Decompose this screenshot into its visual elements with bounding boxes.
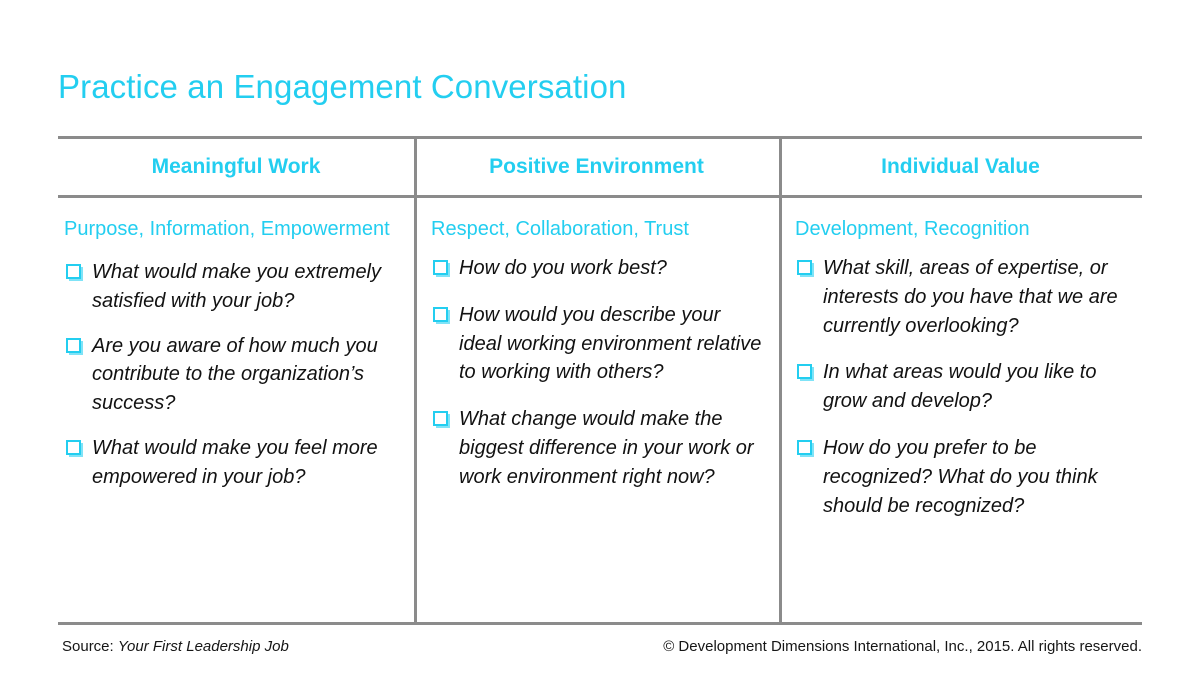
question-list-positive-environment: How do you work best? How would you desc… bbox=[431, 254, 763, 492]
question-text: In what areas would you like to grow and… bbox=[823, 358, 1134, 416]
table-header-row: Meaningful Work Positive Environment Ind… bbox=[58, 139, 1142, 195]
column-header-individual-value: Individual Value bbox=[779, 139, 1142, 195]
question-text: What skill, areas of expertise, or inter… bbox=[823, 254, 1134, 340]
column-positive-environment: Respect, Collaboration, Trust How do you… bbox=[414, 198, 779, 622]
question-text: Are you aware of how much you contribute… bbox=[92, 332, 400, 418]
question-text: What would make you feel more empowered … bbox=[92, 434, 400, 492]
shadowed-square-bullet-icon bbox=[433, 260, 450, 277]
question-text: What would make you extremely satisfied … bbox=[92, 258, 400, 316]
shadowed-square-bullet-icon bbox=[433, 307, 450, 324]
column-subhead-individual-value: Development, Recognition bbox=[795, 214, 1134, 244]
list-item: How do you prefer to be recognized? What… bbox=[795, 434, 1134, 520]
page-title: Practice an Engagement Conversation bbox=[58, 68, 627, 106]
column-header-positive-environment: Positive Environment bbox=[414, 139, 779, 195]
question-text: How would you describe your ideal workin… bbox=[459, 301, 763, 387]
list-item: What would make you feel more empowered … bbox=[64, 434, 400, 492]
source-credit: Source: Your First Leadership Job bbox=[62, 638, 289, 655]
shadowed-square-bullet-icon bbox=[66, 338, 83, 355]
shadowed-square-bullet-icon bbox=[797, 364, 814, 381]
column-subhead-positive-environment: Respect, Collaboration, Trust bbox=[431, 214, 763, 244]
column-meaningful-work: Purpose, Information, Empowerment What w… bbox=[58, 198, 414, 622]
column-subhead-meaningful-work: Purpose, Information, Empowerment bbox=[64, 214, 400, 244]
shadowed-square-bullet-icon bbox=[66, 264, 83, 281]
list-item: What change would make the biggest diffe… bbox=[431, 405, 763, 491]
table-body-row: Purpose, Information, Empowerment What w… bbox=[58, 198, 1142, 622]
question-list-meaningful-work: What would make you extremely satisfied … bbox=[64, 258, 400, 492]
source-title: Your First Leadership Job bbox=[118, 638, 289, 655]
question-text: How do you prefer to be recognized? What… bbox=[823, 434, 1134, 520]
question-text: What change would make the biggest diffe… bbox=[459, 405, 763, 491]
column-individual-value: Development, Recognition What skill, are… bbox=[779, 198, 1142, 622]
shadowed-square-bullet-icon bbox=[66, 440, 83, 457]
shadowed-square-bullet-icon bbox=[433, 411, 450, 428]
slide-canvas: Practice an Engagement Conversation Mean… bbox=[0, 0, 1200, 698]
question-text: How do you work best? bbox=[459, 254, 763, 283]
list-item: In what areas would you like to grow and… bbox=[795, 358, 1134, 416]
source-label: Source: bbox=[62, 638, 114, 655]
list-item: What skill, areas of expertise, or inter… bbox=[795, 254, 1134, 340]
copyright-notice: © Development Dimensions International, … bbox=[663, 638, 1142, 655]
question-list-individual-value: What skill, areas of expertise, or inter… bbox=[795, 254, 1134, 520]
list-item: Are you aware of how much you contribute… bbox=[64, 332, 400, 418]
table-bottom-rule bbox=[58, 622, 1142, 625]
list-item: How would you describe your ideal workin… bbox=[431, 301, 763, 387]
shadowed-square-bullet-icon bbox=[797, 260, 814, 277]
column-header-meaningful-work: Meaningful Work bbox=[58, 139, 414, 195]
shadowed-square-bullet-icon bbox=[797, 440, 814, 457]
list-item: How do you work best? bbox=[431, 254, 763, 283]
list-item: What would make you extremely satisfied … bbox=[64, 258, 400, 316]
